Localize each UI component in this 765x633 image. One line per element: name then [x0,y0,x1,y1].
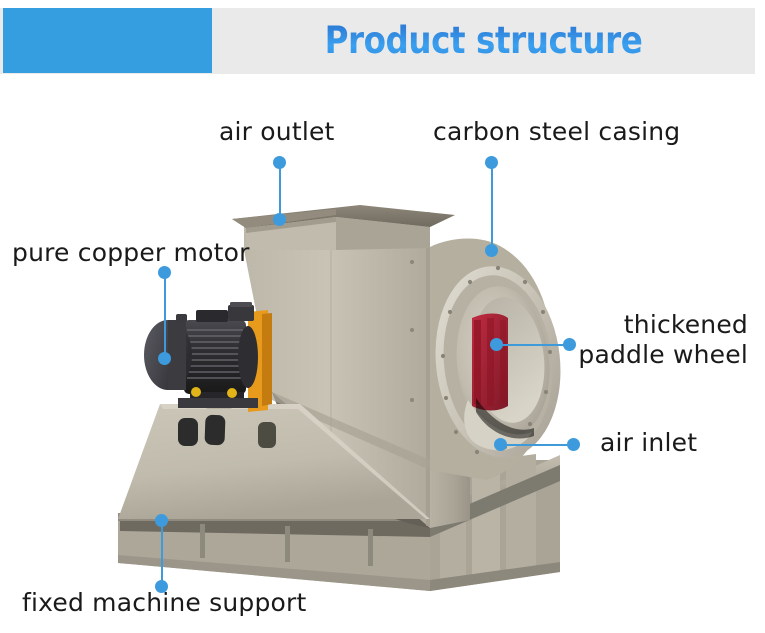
callout-label-air-outlet: air outlet [219,117,335,147]
callout-dot-carbon-steel-casing-top [485,156,498,169]
leader-line-carbon-steel-casing [491,162,493,250]
callout-label-thickened-paddle-wheel: thickened paddle wheel [520,310,748,370]
callout-dot-pure-copper-motor-top [158,266,171,279]
callout-dot-air-inlet-start [494,438,507,451]
leader-line-air-outlet [279,162,281,220]
callout-dot-thickened-paddle-wheel-start [490,338,503,351]
thickened-paddle-wheel [472,314,508,411]
callout-dot-carbon-steel-casing-end [485,244,498,257]
callout-dot-air-inlet-end [567,438,580,451]
leader-line-air-inlet [500,444,576,446]
leader-line-thickened-paddle-wheel [496,344,572,346]
callout-dot-fixed-machine-support-end [155,580,168,593]
leader-line-fixed-machine-support [161,520,163,586]
callout-label-fixed-machine-support: fixed machine support [22,588,307,618]
callout-label-pure-copper-motor: pure copper motor [12,238,250,268]
callout-dot-fixed-machine-support-top [155,514,168,527]
callout-dot-air-outlet-end [273,213,286,226]
callout-label-carbon-steel-casing: carbon steel casing [433,117,680,147]
callout-label-thickened-paddle-wheel-line2: paddle wheel [578,340,748,369]
product-structure-page: Product structure Product structure [0,0,765,633]
callout-dot-air-outlet-top [273,156,286,169]
callout-dot-thickened-paddle-wheel-end [563,338,576,351]
callout-dot-pure-copper-motor-end [158,352,171,365]
leader-line-pure-copper-motor [164,272,166,358]
air-outlet-duct [232,205,455,250]
callout-label-air-inlet: air inlet [600,428,697,458]
callout-label-thickened-paddle-wheel-line1: thickened [624,310,748,339]
